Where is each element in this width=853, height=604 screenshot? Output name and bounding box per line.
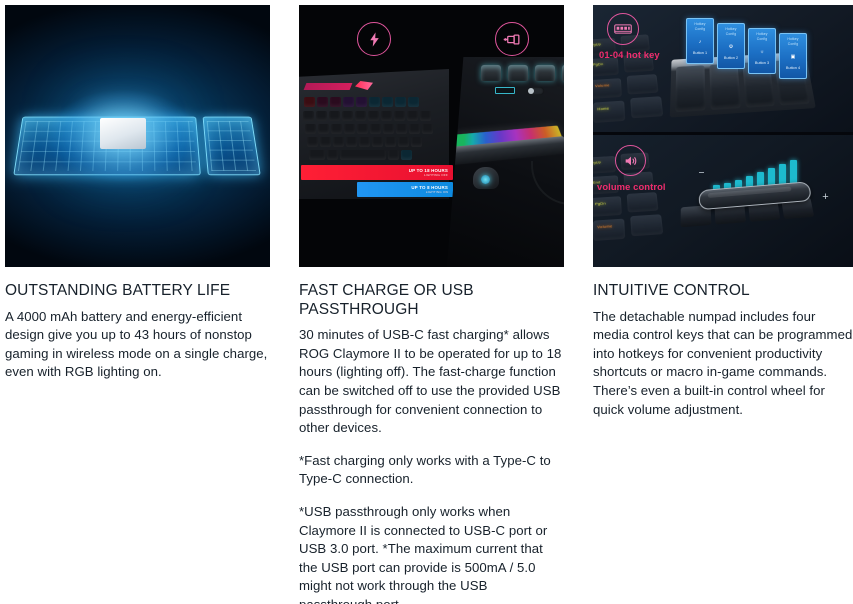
key	[409, 124, 420, 134]
page-title: OUTSTANDING BATTERY LIFE	[5, 282, 270, 301]
callout-bar-8-hours: UP TO 8 HOURS LIGHTING ON	[357, 182, 453, 197]
key	[627, 192, 659, 212]
key: PgUp	[593, 156, 616, 174]
callout-bar-18-hours: UP TO 18 HOURS LIGHTING OFF	[301, 165, 453, 180]
volume-speaker-icon	[615, 145, 646, 176]
feature-paragraph: A 4000 mAh battery and energy-efficient …	[5, 308, 270, 382]
switch-cap	[535, 65, 555, 81]
key: Volume	[593, 78, 622, 99]
key	[630, 214, 663, 236]
key	[343, 97, 354, 107]
key-row	[305, 124, 433, 134]
key-label: Volume	[597, 223, 612, 229]
key-label: Home	[597, 106, 609, 112]
key	[342, 111, 353, 121]
key	[355, 111, 366, 121]
switch-cap	[481, 65, 501, 81]
key	[407, 111, 418, 121]
spacebar-key	[340, 150, 386, 160]
rog-stripe	[304, 83, 353, 90]
page-title: FAST CHARGE OR USB PASSTHROUGH	[299, 282, 564, 319]
keyboard-angled-view	[447, 57, 564, 267]
key	[385, 137, 396, 147]
key-label: PgUp	[593, 42, 601, 47]
switch-cap	[508, 65, 528, 81]
key	[369, 97, 380, 107]
key	[307, 137, 318, 147]
key	[331, 124, 342, 134]
key	[318, 124, 329, 134]
usb-passthrough-icon	[495, 22, 529, 56]
tooltip-button: Button 1	[689, 51, 711, 56]
key: Volume	[593, 219, 625, 241]
switch-cap	[562, 65, 564, 81]
tooltip-glyph: ♪	[689, 39, 711, 45]
key-row	[307, 137, 422, 147]
key	[317, 97, 328, 107]
key	[411, 137, 422, 147]
hotkey-tooltip: Hotkey Config ♪ Button 1	[686, 18, 714, 64]
lightning-bolt-icon	[357, 22, 391, 56]
key	[382, 97, 393, 107]
battery-module	[100, 118, 146, 149]
fast-charge-image: UP TO 18 HOURS LIGHTING OFF UP TO 8 HOUR…	[299, 5, 564, 267]
feature-paragraph: 30 minutes of USB-C fast charging* allow…	[299, 326, 564, 438]
key-label: PgDn	[593, 62, 603, 67]
feature-column-battery: OUTSTANDING BATTERY LIFE A 4000 mAh batt…	[5, 5, 270, 382]
key	[394, 111, 405, 121]
key	[304, 97, 315, 107]
feature-columns: OUTSTANDING BATTERY LIFE A 4000 mAh batt…	[5, 5, 853, 604]
key	[396, 124, 407, 134]
key	[327, 150, 338, 160]
feature-column-fast-charge: UP TO 18 HOURS LIGHTING OFF UP TO 8 HOUR…	[299, 5, 564, 604]
key	[388, 150, 399, 160]
key	[381, 111, 392, 121]
hotkey-tooltip: Hotkey Config ▣ Button 4	[779, 33, 807, 79]
hotkey-tooltip: Hotkey Config ☼ Button 3	[748, 28, 776, 74]
xray-numpad-key-grid	[207, 121, 256, 171]
key	[346, 137, 357, 147]
gaming-mouse	[473, 167, 499, 189]
key	[357, 124, 368, 134]
key-label: PgUp	[593, 160, 601, 165]
key-row	[303, 111, 431, 121]
battery-life-image	[5, 5, 270, 267]
key	[398, 137, 409, 147]
key	[408, 97, 419, 107]
feature-footnote: *Fast charging only works with a Type-C …	[299, 452, 564, 489]
usb-passthrough-port	[495, 87, 515, 94]
callout-subtitle: LIGHTING ON	[411, 190, 448, 194]
key	[320, 137, 331, 147]
key	[422, 124, 433, 134]
key-row	[309, 150, 412, 160]
page-title: INTUITIVE CONTROL	[593, 282, 853, 301]
key-label: PgDn	[595, 201, 606, 206]
key	[372, 137, 383, 147]
tooltip-glyph: ▣	[782, 54, 804, 60]
key	[383, 124, 394, 134]
key-label: Volume	[595, 83, 610, 89]
rog-logo-icon	[355, 81, 373, 90]
key	[370, 124, 381, 134]
key	[316, 111, 327, 121]
key	[627, 74, 659, 94]
key	[401, 150, 412, 160]
key	[395, 97, 406, 107]
key	[344, 124, 355, 134]
key	[359, 137, 370, 147]
feature-paragraph: The detachable numpad includes four medi…	[593, 308, 853, 420]
key	[630, 96, 663, 118]
tooltip-button: Button 2	[720, 56, 742, 61]
tooltip-header: Hotkey Config	[689, 22, 711, 32]
switch-caps-row	[481, 65, 564, 81]
xray-keyboard-numpad	[203, 117, 261, 176]
key	[303, 111, 314, 121]
hotkey-tooltip: Hotkey Config ⚙ Button 2	[717, 23, 745, 69]
function-key-row	[304, 97, 419, 107]
volume-plus-icon: +	[821, 193, 830, 202]
tooltip-glyph: ⚙	[720, 44, 742, 50]
hotkey-tooltip-group: Hotkey Config ♪ Button 1 Hotkey Config ⚙…	[686, 18, 807, 79]
hotkey-label: 01-04 hot key	[599, 49, 660, 60]
key	[368, 111, 379, 121]
tooltip-header: Hotkey Config	[720, 27, 742, 37]
key	[305, 124, 316, 134]
tooltip-glyph: ☼	[751, 49, 773, 55]
key: Home	[593, 101, 625, 123]
callout-subtitle: LIGHTING OFF	[409, 173, 448, 177]
tooltip-button: Button 3	[751, 61, 773, 66]
key: PgDn	[593, 57, 619, 76]
feature-footnote: *USB passthrough only works when Claymor…	[299, 503, 564, 604]
volume-control-label: volume control	[597, 181, 666, 192]
fast-charge-toggle-switch	[527, 87, 544, 95]
tooltip-button: Button 4	[782, 66, 804, 71]
key	[356, 97, 367, 107]
feature-column-intuitive-control: PgUp PgDn Volume Home	[593, 5, 853, 419]
key	[329, 111, 340, 121]
tooltip-header: Hotkey Config	[751, 32, 773, 42]
intuitive-control-image: PgUp PgDn Volume Home	[593, 5, 853, 267]
key: PgDn	[593, 196, 622, 217]
key	[420, 111, 431, 121]
key	[309, 150, 325, 160]
usb-cable	[531, 161, 564, 205]
volume-minus-icon	[699, 172, 704, 173]
key	[333, 137, 344, 147]
key	[330, 97, 341, 107]
hotkey-row-icon	[607, 13, 639, 45]
product-feature-panel: OUTSTANDING BATTERY LIFE A 4000 mAh batt…	[0, 0, 853, 604]
tooltip-header: Hotkey Config	[782, 37, 804, 47]
